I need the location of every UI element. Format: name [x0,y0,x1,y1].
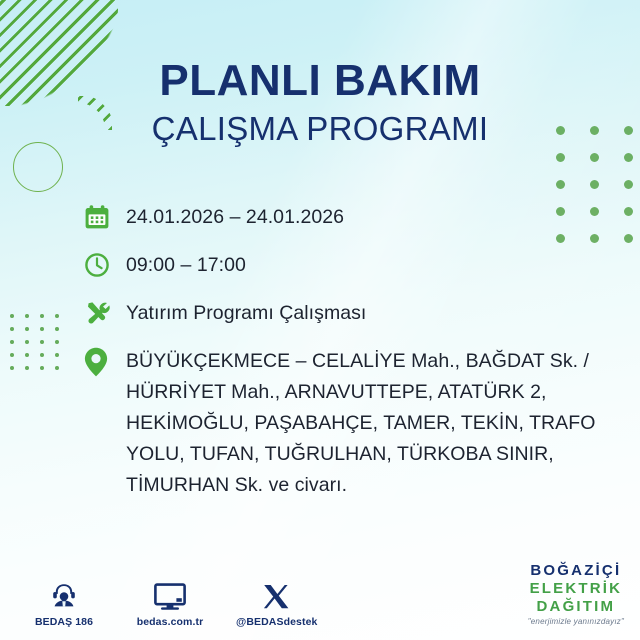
dot [10,327,14,331]
address-line: HÜRRİYET Mah., ARNAVUTTEPE, ATATÜRK 2, [126,377,595,408]
dot [556,153,565,162]
tools-icon [84,296,126,330]
dot [10,366,14,370]
dot [556,180,565,189]
detail-row-location: BÜYÜKÇEKMECE – CELALİYE Mah., BAĞDAT Sk.… [84,344,584,501]
outage-location: BÜYÜKÇEKMECE – CELALİYE Mah., BAĞDAT Sk.… [126,344,595,501]
dot [624,153,633,162]
dot [10,314,14,318]
poster-canvas: PLANLI BAKIM ÇALIŞMA PROGRAMI [0,0,640,640]
dot [40,327,44,331]
dot [55,340,59,344]
dot [624,234,633,243]
outage-time-range: 09:00 – 17:00 [126,248,246,281]
dot [624,207,633,216]
bedas-logo: BOĞAZİÇİ ELEKTRİK DAĞITIM "enerjimizle y… [528,563,624,626]
x-twitter-icon [236,577,316,611]
dot [40,340,44,344]
logo-tagline: "enerjimizle yanınızdayız" [528,618,624,626]
outage-work-type: Yatırım Programı Çalışması [126,296,366,329]
poster-header: PLANLI BAKIM ÇALIŞMA PROGRAMI [0,56,640,148]
logo-line-bogazici: BOĞAZİÇİ [528,563,624,578]
dot [40,366,44,370]
detail-row-date: 24.01.2026 – 24.01.2026 [84,200,584,234]
dot [55,314,59,318]
outage-details: 24.01.2026 – 24.01.2026 09:00 – 17:00 [84,200,584,501]
contact-label: @BEDASdestek [236,616,316,628]
dot [40,353,44,357]
contact-call-center[interactable]: BEDAŞ 186 [24,577,104,628]
dot [55,327,59,331]
dot [10,353,14,357]
dot [590,180,599,189]
dot [25,340,29,344]
detail-row-work-type: Yatırım Programı Çalışması [84,296,584,330]
dot [25,353,29,357]
contact-social-x[interactable]: @BEDASdestek [236,577,316,628]
dot [25,327,29,331]
contact-label: BEDAŞ 186 [24,616,104,628]
dot [55,353,59,357]
calendar-icon [84,200,126,234]
contact-label: bedas.com.tr [130,616,210,628]
dot [590,153,599,162]
dot [590,234,599,243]
map-pin-icon [84,344,126,381]
dot [590,207,599,216]
page-title: PLANLI BAKIM [0,56,640,106]
clock-icon [84,248,126,282]
page-subtitle: ÇALIŞMA PROGRAMI [0,110,640,148]
contact-website[interactable]: bedas.com.tr [130,577,210,628]
dot [55,366,59,370]
dot [624,180,633,189]
address-line: HEKİMOĞLU, PAŞABAHÇE, TAMER, TEKİN, TRAF… [126,408,595,439]
logo-line-dagitim: DAĞITIM [528,599,624,614]
address-line: TİMURHAN Sk. ve civarı. [126,470,595,501]
contact-channels: BEDAŞ 186 bedas.com.tr [24,577,316,628]
circle-outline-decoration [13,142,63,192]
dot-grid-left-decoration [10,314,70,379]
headset-support-icon [24,577,104,611]
dot [25,366,29,370]
detail-row-time: 09:00 – 17:00 [84,248,584,282]
outage-date-range: 24.01.2026 – 24.01.2026 [126,200,344,233]
address-line: YOLU, TUFAN, TUĞRULHAN, TÜRKOBA SINIR, [126,439,595,470]
logo-line-elektrik: ELEKTRİK [528,581,624,596]
dot [25,314,29,318]
dot [10,340,14,344]
address-line: BÜYÜKÇEKMECE – CELALİYE Mah., BAĞDAT Sk.… [126,346,595,377]
monitor-website-icon [130,577,210,611]
poster-footer: BEDAŞ 186 bedas.com.tr [0,554,640,640]
dot [40,314,44,318]
